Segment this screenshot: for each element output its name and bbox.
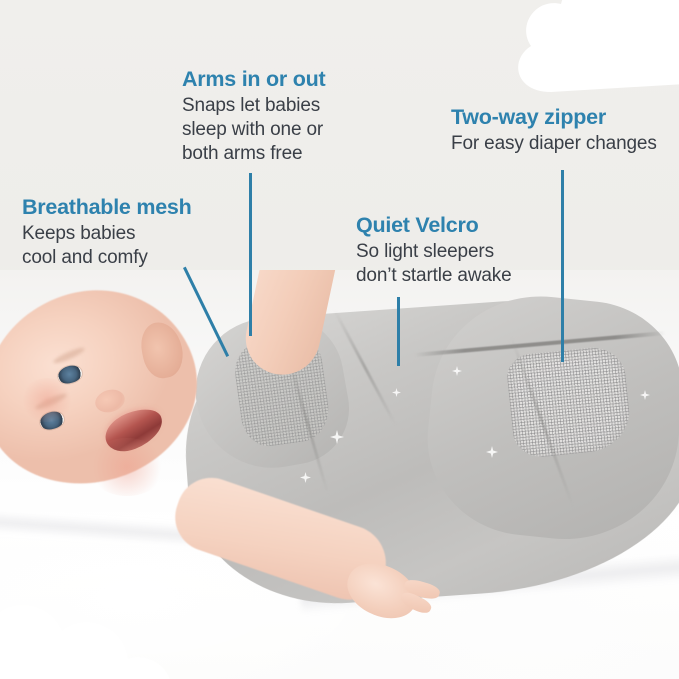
- callout-title-arms: Arms in or out: [182, 66, 325, 92]
- callout-title-mesh: Breathable mesh: [22, 194, 192, 220]
- baby-product-photo: [0, 270, 679, 679]
- callout-quiet-velcro: Quiet Velcro So light sleepers don’t sta…: [356, 212, 512, 288]
- callout-body-velcro: So light sleepers don’t startle awake: [356, 240, 512, 288]
- callout-body-arms: Snaps let babies sleep with one or both …: [182, 94, 325, 166]
- callout-arms-in-or-out: Arms in or out Snaps let babies sleep wi…: [182, 66, 325, 166]
- baby-cheek: [20, 378, 74, 422]
- product-feature-infographic: Arms in or out Snaps let babies sleep wi…: [0, 0, 679, 679]
- callout-title-velcro: Quiet Velcro: [356, 212, 512, 238]
- callout-body-zipper: For easy diaper changes: [451, 132, 657, 156]
- callout-title-zipper: Two-way zipper: [451, 104, 657, 130]
- baby-cheek: [88, 438, 166, 496]
- callout-breathable-mesh: Breathable mesh Keeps babies cool and co…: [22, 194, 192, 270]
- callout-two-way-zipper: Two-way zipper For easy diaper changes: [451, 104, 657, 156]
- leader-line-velcro: [397, 297, 400, 366]
- callout-body-mesh: Keeps babies cool and comfy: [22, 222, 192, 270]
- leader-line-arms: [249, 173, 252, 336]
- leader-line-zipper: [561, 170, 564, 362]
